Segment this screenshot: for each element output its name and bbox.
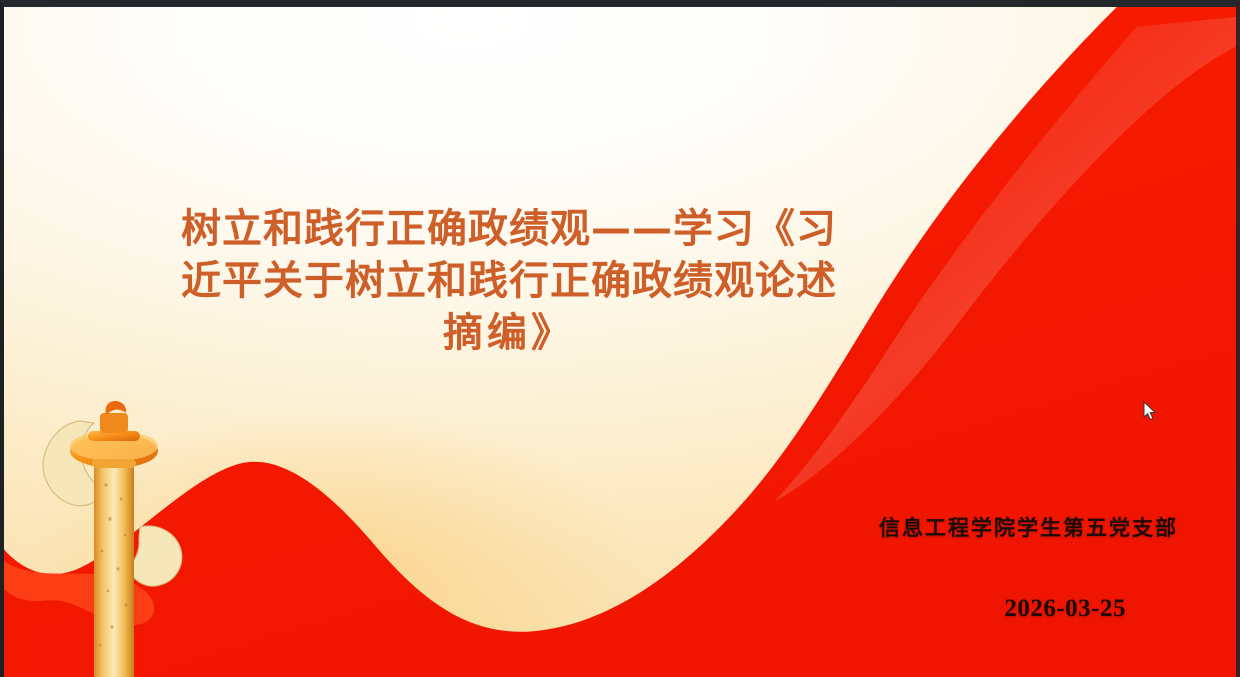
red-wave-shape	[4, 7, 1236, 677]
organization-name: 信息工程学院学生第五党支部	[879, 512, 1178, 542]
red-wave-fill	[4, 7, 1236, 677]
slide-canvas: 树立和践行正确政绩观——学习《习 近平关于树立和践行正确政绩观论述 摘编》 信息…	[4, 7, 1236, 677]
presentation-date: 2026-03-25	[1004, 595, 1126, 623]
presentation-window: 树立和践行正确政绩观——学习《习 近平关于树立和践行正确政绩观论述 摘编》 信息…	[0, 0, 1240, 677]
